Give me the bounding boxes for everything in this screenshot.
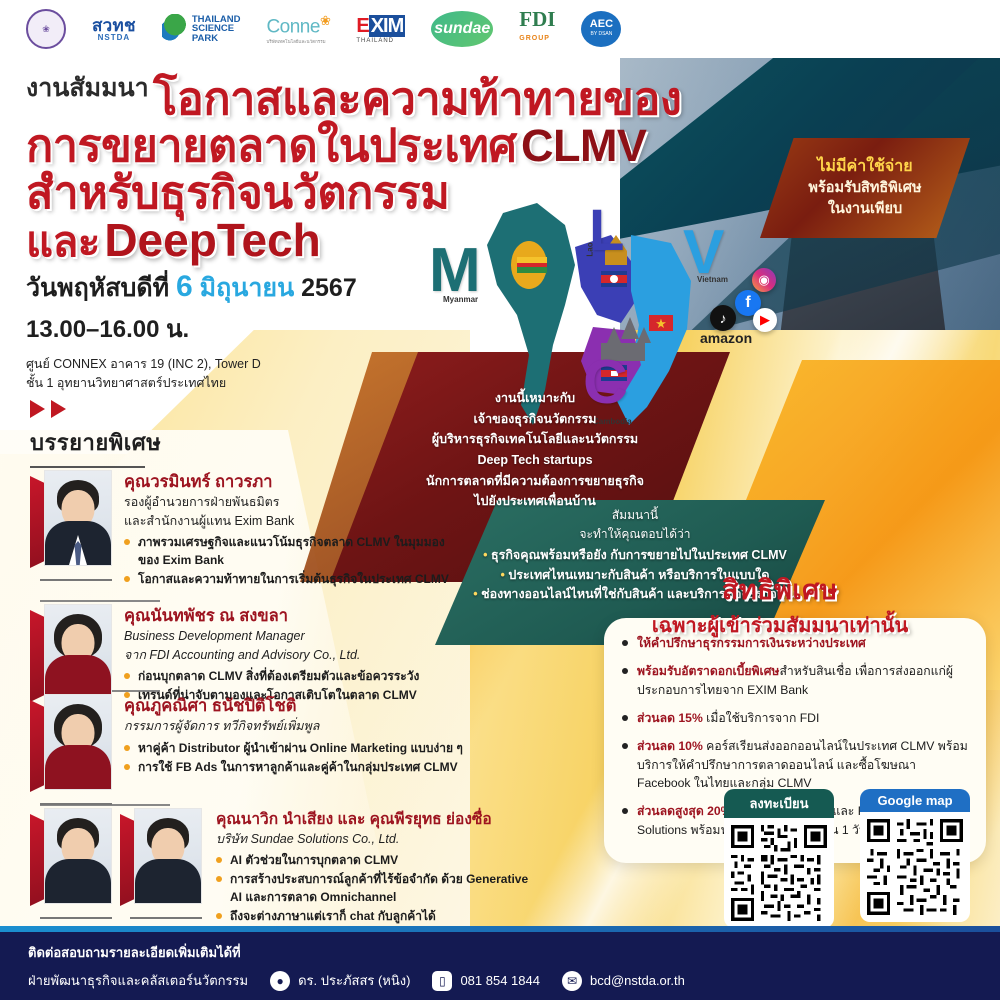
speakers-heading-block: บรรยายพิเศษ xyxy=(30,400,161,468)
speaker-name: คุณภูคณิศา ธนัชปิติโชติ xyxy=(124,696,463,717)
speaker-card: คุณภูคณิศา ธนัชปิติโชติ กรรมการผู้จัดการ… xyxy=(30,694,500,798)
speaker-topic: ก่อนบุกตลาด CLMV สิ่งที่ต้องเตรียมตัวและ… xyxy=(124,667,419,685)
connex-logo: Conne❀บริษัทเทคโนโลยีและนวัตกรรม xyxy=(266,9,330,49)
privileges-title-block: สิทธิพิเศษ เฉพาะผู้เข้าร่วมสัมมนาเท่านั้… xyxy=(580,568,980,641)
speaker-role-line-1: รองผู้อำนวยการฝ่ายพันธมิตร xyxy=(124,493,450,511)
nstda-logo: สวทชNSTDA xyxy=(92,9,136,49)
speaker-photo xyxy=(30,808,112,912)
speaker-card: คุณวรมินทร์ ถาวรภา รองผู้อำนวยการฝ่ายพัน… xyxy=(30,470,450,589)
speaker-name: คุณวรมินทร์ ถาวรภา xyxy=(124,472,450,493)
footer-phone-item[interactable]: ▯ 081 854 1844 xyxy=(432,971,540,991)
footer-email: bcd@nstda.or.th xyxy=(590,973,685,988)
title-deeptech: DeepTech xyxy=(104,214,320,266)
exim-thailand-logo: EXIMTHAILAND xyxy=(356,9,405,49)
thailand-science-park-logo: THAILANDSCIENCEPARK xyxy=(162,9,241,49)
privilege-item: พร้อมรับอัตราดอกเบี้ยพิเศษสำหรับสินเชื่อ… xyxy=(620,662,970,700)
google-map-qr-block[interactable]: Google map xyxy=(860,789,970,928)
free-badge-line-3: ในงานเพียบ xyxy=(828,199,902,220)
speaker-photo xyxy=(30,470,112,574)
privilege-item: ส่วนลด 15% เมื่อใช้บริการจาก FDI xyxy=(620,709,970,728)
speaker-name: คุณนาวิก นำเสียง และ คุณพีรยุทธ ย่องซื่อ xyxy=(216,810,530,830)
speaker-role-line-2: และสำนักงานผู้แทน Exim Bank xyxy=(124,512,450,530)
event-month: มิถุนายน xyxy=(200,274,294,302)
speaker-topic: การใช้ FB Ads ในการหาลูกค้าและคู่ค้าในกล… xyxy=(124,758,463,776)
seminar-answers-head-1: สัมมนานี้ xyxy=(440,506,830,525)
sponsor-logo-bar: ❀ สวทชNSTDA THAILANDSCIENCEPARK Conne❀บร… xyxy=(0,0,1000,58)
title-prefix: งานสัมมนา xyxy=(26,74,149,102)
google-map-qr-image[interactable] xyxy=(860,812,970,922)
speaker-photo xyxy=(120,808,202,912)
title-line-3: สำหรับธุรกิจนวัตกรรม xyxy=(26,167,449,218)
free-admission-badge: ไม่มีค่าใช้จ่าย พร้อมรับสิทธิพิเศษ ในงาน… xyxy=(760,138,970,238)
footer-email-item[interactable]: ✉ bcd@nstda.or.th xyxy=(562,971,685,991)
audience-line: เจ้าของธุรกิจนวัตกรรม xyxy=(340,409,730,430)
footer-contact-bar: ติดต่อสอบถามรายละเอียดเพิ่มเติมได้ที่ ฝ่… xyxy=(0,932,1000,1000)
footer-phone: 081 854 1844 xyxy=(460,973,540,988)
speaker-photo xyxy=(30,694,112,798)
amazon-icon: amazon xyxy=(700,330,752,346)
royal-seal-logo: ❀ xyxy=(26,9,66,49)
speaker-role-line-2: จาก FDI Accounting and Advisory Co., Ltd… xyxy=(124,646,419,664)
event-datetime: วันพฤหัสบดีที่ 6 มิถุนายน 2567 13.00–16.… xyxy=(26,270,357,393)
footer-contact-person-item: ● ดร. ประภัสสร (หนิง) xyxy=(270,970,410,991)
speaker-name: คุณนันทพัชร ณ สงขลา xyxy=(124,606,419,627)
instagram-icon: ◉ xyxy=(752,268,776,292)
seminar-answers-head-2: จะทำให้คุณตอบได้ว่า xyxy=(440,525,830,544)
privilege-item: ส่วนลด 10% คอร์สเรียนส่งออกออนไลน์ในประเ… xyxy=(620,737,970,794)
speaker-topic: หาคู่ค้า Distributor ผู้นำเข้าผ่าน Onlin… xyxy=(124,739,463,757)
heading-underline xyxy=(30,466,145,468)
event-year: 2567 xyxy=(301,274,357,302)
speaker-role-line-1: Business Development Manager xyxy=(124,627,419,645)
audience-line: ผู้บริหารธุรกิจเทคโนโลยีและนวัตกรรม xyxy=(340,429,730,450)
seminar-answer-item: ธุรกิจคุณพร้อมหรือยัง กับการขยายไปในประเ… xyxy=(440,546,830,565)
fdi-group-logo: FDIGROUP xyxy=(519,9,555,49)
svg-text:★: ★ xyxy=(655,316,667,331)
sundae-logo: sundae xyxy=(431,11,493,47)
arrow-right-icon xyxy=(30,400,45,418)
free-badge-line-2: พร้อมรับสิทธิพิเศษ xyxy=(808,178,921,199)
arrow-right-icon xyxy=(51,400,66,418)
seminar-poster: ❀ สวทชNSTDA THAILANDSCIENCEPARK Conne❀บร… xyxy=(0,0,1000,1000)
event-venue-line-2: ชั้น 1 อุทยานวิทยาศาสตร์ประเทศไทย xyxy=(26,374,357,393)
register-qr-image[interactable] xyxy=(724,818,834,928)
tiktok-icon: ♪ xyxy=(710,305,736,331)
speaker-topic: ถึงจะต่างภาษาแต่เราก็ chat กับลูกค้าได้ xyxy=(216,907,530,925)
qr-code-row: ลงทะเบียน xyxy=(724,789,970,928)
speaker-role-line-1: กรรมการผู้จัดการ ทวีกิจทรัพย์เพิ่มพูล xyxy=(124,717,463,735)
speaker-card: คุณนาวิก นำเสียง และ คุณพีรยุทธ ย่องซื่อ… xyxy=(30,808,530,926)
poster-title: งานสัมมนา โอกาสและความท้าทายของ การขยายต… xyxy=(26,76,716,265)
event-day-number: 6 xyxy=(176,270,193,303)
phone-icon: ▯ xyxy=(432,971,452,991)
map-label-vietnam: Vietnam xyxy=(697,275,728,284)
event-venue-line-1: ศูนย์ CONNEX อาคาร 19 (INC 2), Tower D xyxy=(26,355,357,374)
privileges-subtitle: เฉพาะผู้เข้าร่วมสัมมนาเท่านั้น xyxy=(580,609,980,641)
footer-department: ฝ่ายพัฒนาธุรกิจและคลัสเตอร์นวัตกรรม xyxy=(28,970,248,991)
event-time: 13.00–16.00 น. xyxy=(26,309,357,348)
speakers-heading: บรรยายพิเศษ xyxy=(30,425,161,460)
email-icon: ✉ xyxy=(562,971,582,991)
register-qr-block[interactable]: ลงทะเบียน xyxy=(724,789,834,928)
audience-line: งานนี้เหมาะกับ xyxy=(340,388,730,409)
speaker-topic: การสร้างประสบการณ์ลูกค้าที่ไร้ข้อจำกัด ด… xyxy=(216,870,530,906)
register-qr-label: ลงทะเบียน xyxy=(724,789,834,818)
speaker-topic: ภาพรวมเศรษฐกิจและแนวโน้มธุรกิจตลาด CLMV … xyxy=(124,533,450,569)
arrow-icons xyxy=(30,400,161,418)
footer-heading: ติดต่อสอบถามรายละเอียดเพิ่มเติมได้ที่ xyxy=(28,942,1000,963)
privileges-title: สิทธิพิเศษ xyxy=(580,568,980,611)
event-day-prefix: วันพฤหัสบดีที่ xyxy=(26,274,169,302)
aec-by-dsan-logo: AECBY DSAN xyxy=(581,11,621,47)
audience-line: Deep Tech startups xyxy=(340,450,730,471)
speaker-topic: AI ตัวช่วยในการบุกตลาด CLMV xyxy=(216,851,530,869)
speaker-role-line-1: บริษัท Sundae Solutions Co., Ltd. xyxy=(216,830,530,848)
title-line-2: การขยายตลาดในประเทศ xyxy=(26,120,517,171)
youtube-icon: ▶ xyxy=(753,308,777,332)
footer-contact-person: ดร. ประภัสสร (หนิง) xyxy=(298,970,410,991)
map-label-myanmar: Myanmar xyxy=(443,295,478,304)
title-clmv-highlight: CLMV xyxy=(521,120,647,171)
speaker-card: คุณนันทพัชร ณ สงขลา Business Development… xyxy=(30,604,470,708)
google-map-qr-label: Google map xyxy=(860,789,970,812)
free-badge-line-1: ไม่มีค่าใช้จ่าย xyxy=(817,156,912,178)
person-icon: ● xyxy=(270,971,290,991)
speaker-photo xyxy=(30,604,112,708)
speaker-topic: โอกาสและความท้าทายในการเริ่มต้นธุรกิจในป… xyxy=(124,570,450,588)
title-line-4-prefix: และ xyxy=(26,218,100,265)
title-line-1: โอกาสและความท้าทายของ xyxy=(153,73,681,124)
